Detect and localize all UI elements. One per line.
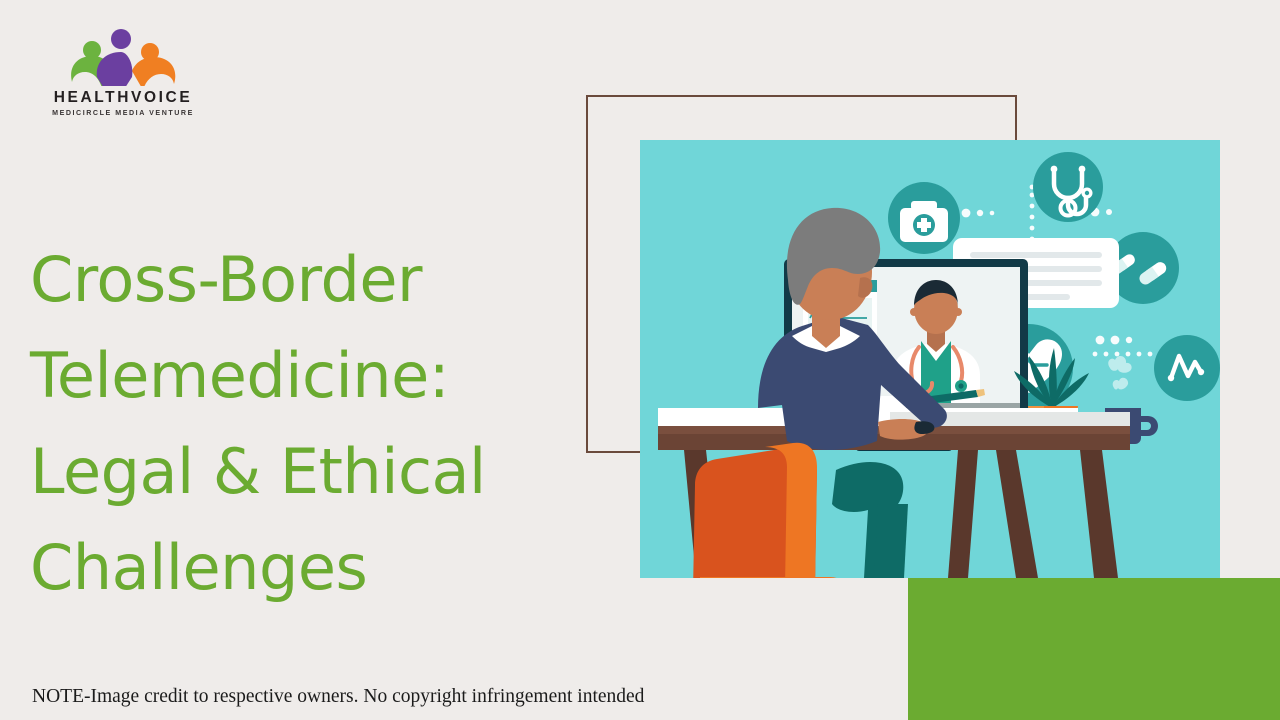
logo-name: HEALTHVOICE — [28, 90, 218, 106]
logo-tagline: MEDICIRCLE MEDIA VENTURE — [28, 109, 218, 117]
brand-logo: HEALTHVOICE MEDICIRCLE MEDIA VENTURE — [28, 24, 218, 117]
copyright-note: NOTE-Image credit to respective owners. … — [32, 686, 644, 708]
logo-figures-icon — [28, 24, 218, 86]
telemedicine-illustration — [640, 140, 1220, 578]
slide-title: Cross-Border Telemedicine: Legal & Ethic… — [30, 232, 590, 616]
logo-wordmark: HEALTHVOICE MEDICIRCLE MEDIA VENTURE — [28, 90, 218, 117]
decorative-green-block — [908, 578, 1280, 720]
